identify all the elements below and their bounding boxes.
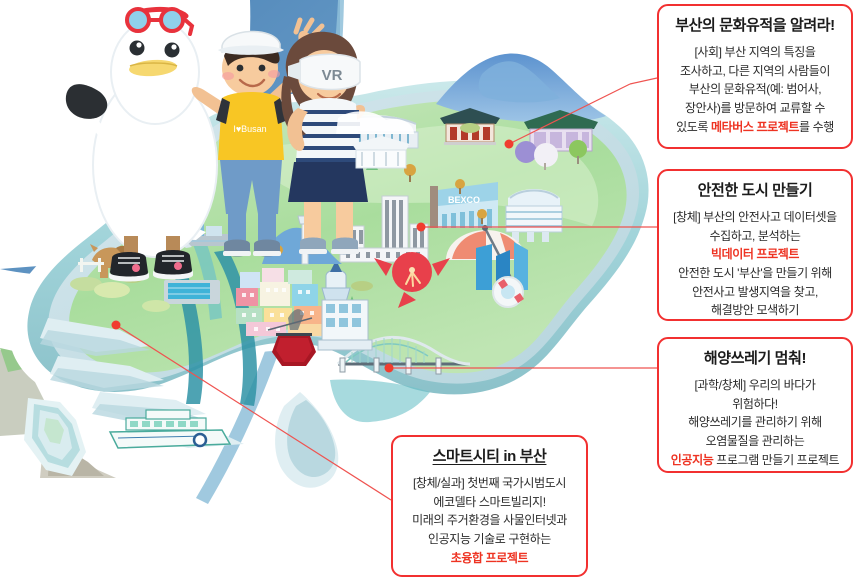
callout-heritage-body: [사회] 부산 지역의 특징을조사하고, 다른 지역의 사람들이부산의 문화유적… [668, 43, 842, 136]
callout-body-line: 조사하고, 다른 지역의 사람들이 [668, 62, 842, 81]
highlighted-keyword: 메타버스 프로젝트 [711, 120, 799, 134]
map-pin-marine[interactable] [385, 364, 394, 373]
callout-body-line: [창체/실과] 첫번째 국가시범도시 [402, 474, 577, 493]
body-text: 오염물질을 관리하는 [706, 434, 805, 448]
highlighted-keyword: 빅데이터 프로젝트 [711, 247, 799, 261]
map-pin-heritage[interactable] [505, 140, 514, 149]
body-text: 안전사고 발생지역을 찾고, [692, 285, 818, 299]
callout-body-line: 인공지능 기술로 구현하는 [402, 530, 577, 549]
map-pin-smartcity[interactable] [112, 321, 121, 330]
callout-body-line: 장안사)를 방문하여 교류할 수 [668, 99, 842, 118]
callout-smart-city[interactable]: 스마트시티 in 부산 [창체/실과] 첫번째 국가시범도시에코델타 스마트빌리… [391, 435, 588, 577]
callout-marine-waste-body: [과학/창체] 우리의 바다가위험하다!해양쓰레기를 관리하기 위해오염물질을 … [668, 376, 842, 469]
callout-body-line: 안전사고 발생지역을 찾고, [668, 283, 842, 302]
callout-body-line: 오염물질을 관리하는 [668, 432, 842, 451]
body-text: 있도록 [676, 120, 711, 134]
bexco-label: BEXCO [448, 195, 480, 205]
body-text: 부산의 문화유적(예: 범어사, [689, 82, 821, 96]
body-text: 수집하고, 분석하는 [710, 229, 801, 243]
body-text: 해양쓰레기를 관리하기 위해 [688, 415, 822, 429]
callout-body-line: 미래의 주거환경을 사물인터넷과 [402, 511, 577, 530]
highlighted-keyword: 초융합 프로젝트 [451, 551, 528, 565]
callout-body-line: 부산의 문화유적(예: 범어사, [668, 80, 842, 99]
body-text: 장안사)를 방문하여 교류할 수 [685, 101, 825, 115]
body-text: 해결방안 모색하기 [711, 303, 799, 317]
body-text: 인공지능 기술로 구현하는 [428, 532, 551, 546]
sneaker-right [153, 250, 193, 280]
body-text: [과학/창체] 우리의 바다가 [694, 378, 815, 392]
callout-body-line: [과학/창체] 우리의 바다가 [668, 376, 842, 395]
body-text: 안전한 도시 '부산'을 만들기 위해 [678, 266, 832, 280]
callout-body-line: 초융합 프로젝트 [402, 549, 577, 568]
sneaker-left [109, 252, 149, 282]
callout-safe-city[interactable]: 안전한 도시 만들기 [창체] 부산의 안전사고 데이터셋을수집하고, 분석하는… [657, 169, 853, 321]
callout-body-line: 수집하고, 분석하는 [668, 227, 842, 246]
busan-project-map-page: BEXCO [0, 0, 860, 581]
highlighted-keyword: 인공지능 [671, 453, 714, 467]
body-text: 를 수행 [799, 120, 834, 134]
callout-body-line: 해결방안 모색하기 [668, 301, 842, 320]
body-text: [사회] 부산 지역의 특징을 [694, 45, 815, 59]
i-love-busan-shirt-text: I♥Busan [233, 124, 266, 134]
callout-body-line: 인공지능 프로그램 만들기 프로젝트 [668, 451, 842, 470]
callout-heritage[interactable]: 부산의 문화유적을 알려라! [사회] 부산 지역의 특징을조사하고, 다른 지… [657, 4, 853, 149]
callout-body-line: 빅데이터 프로젝트 [668, 245, 842, 264]
body-text: [창체/실과] 첫번째 국가시범도시 [413, 476, 566, 490]
callout-safe-city-title: 안전한 도시 만들기 [668, 181, 842, 201]
callout-marine-waste[interactable]: 해양쓰레기 멈춰! [과학/창체] 우리의 바다가위험하다!해양쓰레기를 관리하… [657, 337, 853, 473]
callout-body-line: 위험하다! [668, 395, 842, 414]
callout-body-line: 안전한 도시 '부산'을 만들기 위해 [668, 264, 842, 283]
callout-body-line: 있도록 메타버스 프로젝트를 수행 [668, 118, 842, 137]
body-text: 조사하고, 다른 지역의 사람들이 [680, 64, 830, 78]
callout-body-line: 에코델타 스마트빌리지! [402, 493, 577, 512]
body-text: 미래의 주거환경을 사물인터넷과 [412, 513, 567, 527]
callout-body-line: 해양쓰레기를 관리하기 위해 [668, 413, 842, 432]
body-text: 위험하다! [732, 397, 778, 411]
vr-headset-label: VR [322, 67, 343, 84]
callout-body-line: [창체] 부산의 안전사고 데이터셋을 [668, 208, 842, 227]
ferry-terminal-icon [318, 300, 372, 350]
callout-safe-city-body: [창체] 부산의 안전사고 데이터셋을수집하고, 분석하는빅데이터 프로젝트안전… [668, 208, 842, 320]
body-text: 프로그램 만들기 프로젝트 [713, 453, 839, 467]
callout-marine-waste-title: 해양쓰레기 멈춰! [668, 349, 842, 369]
callout-smart-city-body: [창체/실과] 첫번째 국가시범도시에코델타 스마트빌리지!미래의 주거환경을 … [402, 474, 577, 567]
map-pin-safecity[interactable] [417, 223, 426, 232]
callout-body-line: [사회] 부산 지역의 특징을 [668, 43, 842, 62]
gamcheon-village-icon [236, 268, 322, 336]
callout-smart-city-title: 스마트시티 in 부산 [402, 447, 577, 467]
callout-heritage-title: 부산의 문화유적을 알려라! [668, 16, 842, 36]
body-text: [창체] 부산의 안전사고 데이터셋을 [673, 210, 837, 224]
body-text: 에코델타 스마트빌리지! [433, 495, 545, 509]
life-ring-icon [493, 277, 524, 307]
